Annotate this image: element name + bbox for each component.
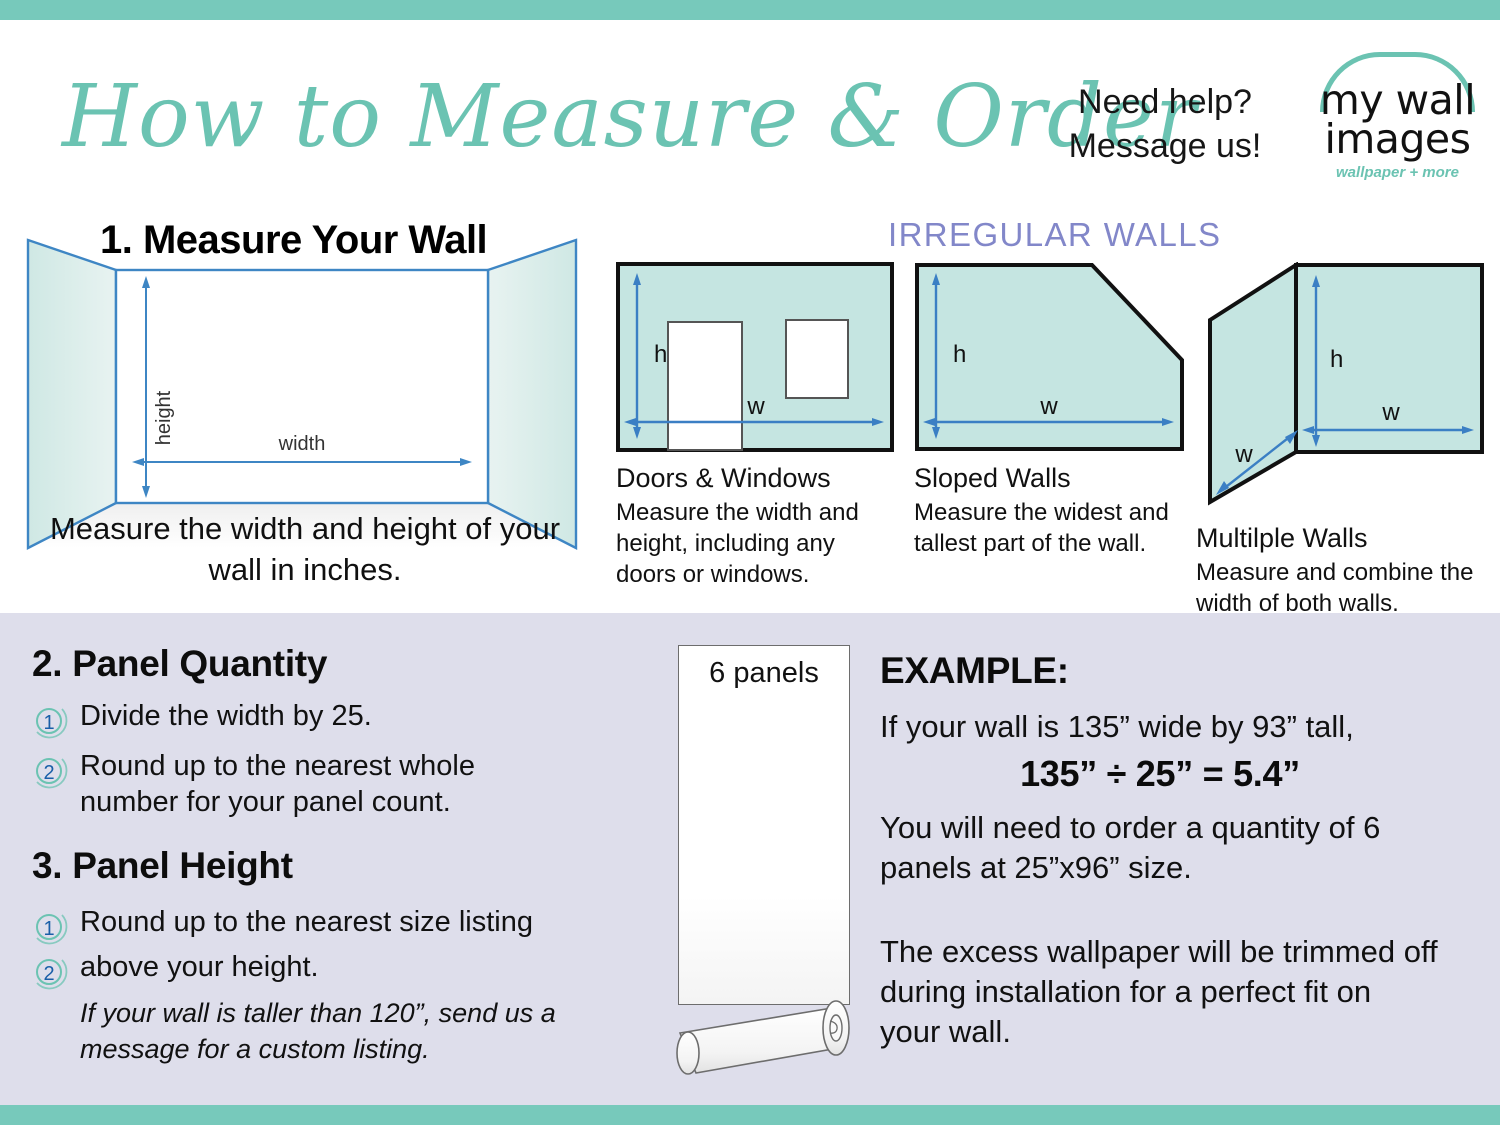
logo-tagline: wallpaper + more <box>1310 164 1485 181</box>
roll-sheet <box>678 645 850 1005</box>
w-side-label: w <box>1234 441 1253 468</box>
number-badge-icon: 2 <box>30 953 68 991</box>
step3-bullet-text: Round up to the nearest size listing <box>80 904 580 940</box>
w-label: w <box>1381 399 1400 426</box>
example-heading: EXAMPLE: <box>880 650 1069 692</box>
wallpaper-roll-illustration: 6 panels <box>678 645 850 1065</box>
example-line4: The excess wallpaper will be trimmed off… <box>880 932 1440 1052</box>
irregular-item-sloped-walls: h w Sloped Walls Measure the widest and … <box>914 262 1184 559</box>
irregular-body: Measure the width and height, including … <box>616 497 894 590</box>
page-title: How to Measure & Order <box>62 52 1022 182</box>
roll-curl <box>666 975 866 1085</box>
height-label: height <box>153 390 175 445</box>
doors-windows-diagram: h w <box>616 262 894 457</box>
irregular-title: Doors & Windows <box>616 461 894 495</box>
h-label: h <box>1330 346 1343 373</box>
step2-bullet-text: Round up to the nearest whole number for… <box>80 748 580 820</box>
infographic-page: How to Measure & Order Need help? Messag… <box>0 0 1500 1125</box>
logo-word-bottom: images <box>1310 117 1485 161</box>
step3-note: If your wall is taller than 120”, send u… <box>80 995 570 1067</box>
svg-text:1: 1 <box>43 712 54 734</box>
roll-panel-count-label: 6 panels <box>678 657 850 690</box>
example-line1: If your wall is 135” wide by 93” tall, <box>880 707 1440 747</box>
irregular-body: Measure and combine the width of both wa… <box>1196 557 1486 619</box>
irregular-item-doors-windows: h w Doors & Windows Measure the width an… <box>616 262 894 590</box>
section1-caption: Measure the width and height of your wal… <box>20 508 590 590</box>
irregular-title: Multilple Walls <box>1196 521 1486 555</box>
svg-text:1: 1 <box>43 918 54 940</box>
irregular-title: Sloped Walls <box>914 461 1184 495</box>
w-label: w <box>746 393 765 420</box>
need-help-line1: Need help? <box>1050 80 1280 124</box>
number-badge-icon: 2 <box>30 752 68 790</box>
brand-logo: my wall images wallpaper + more <box>1310 52 1485 202</box>
irregular-walls-heading: IRREGULAR WALLS <box>888 216 1221 254</box>
step2-bullet-text: Divide the width by 25. <box>80 698 580 734</box>
svg-text:2: 2 <box>43 762 54 784</box>
svg-text:2: 2 <box>43 963 54 985</box>
example-line3: You will need to order a quantity of 6 p… <box>880 808 1440 888</box>
step2-heading: 2. Panel Quantity <box>32 643 327 685</box>
room-diagram: height width <box>18 230 588 550</box>
step3-bullet-text: above your height. <box>80 949 580 985</box>
need-help-line2: Message us! <box>1050 124 1280 168</box>
top-accent-bar <box>0 0 1500 20</box>
irregular-item-multiple-walls: h w w Multilple Walls Measure and combin… <box>1196 262 1486 619</box>
sloped-wall-diagram: h w <box>914 262 1184 457</box>
h-label: h <box>654 341 667 368</box>
need-help-block: Need help? Message us! <box>1050 80 1280 168</box>
example-equation: 135” ÷ 25” = 5.4” <box>880 752 1440 796</box>
number-badge-icon: 1 <box>30 908 68 946</box>
irregular-body: Measure the widest and tallest part of t… <box>914 497 1184 559</box>
h-label: h <box>953 341 966 368</box>
number-badge-icon: 1 <box>30 702 68 740</box>
multiple-walls-diagram: h w w <box>1196 262 1486 517</box>
w-label: w <box>1039 393 1058 420</box>
width-label: width <box>278 433 326 455</box>
step3-heading: 3. Panel Height <box>32 845 293 887</box>
bottom-accent-bar <box>0 1105 1500 1125</box>
